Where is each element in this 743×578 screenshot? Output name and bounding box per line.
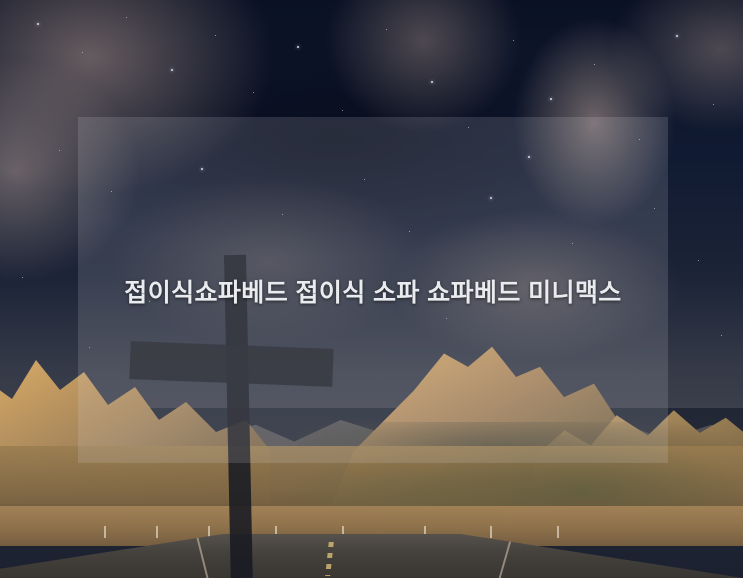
image-canvas: 접이식쇼파베드 접이식 소파 쇼파베드 미니맥스 [0, 0, 743, 578]
page-title: 접이식쇼파베드 접이식 소파 쇼파베드 미니맥스 [106, 277, 639, 311]
text-overlay-panel: 접이식쇼파베드 접이식 소파 쇼파베드 미니맥스 [78, 117, 668, 463]
road-edge-left [195, 534, 208, 578]
